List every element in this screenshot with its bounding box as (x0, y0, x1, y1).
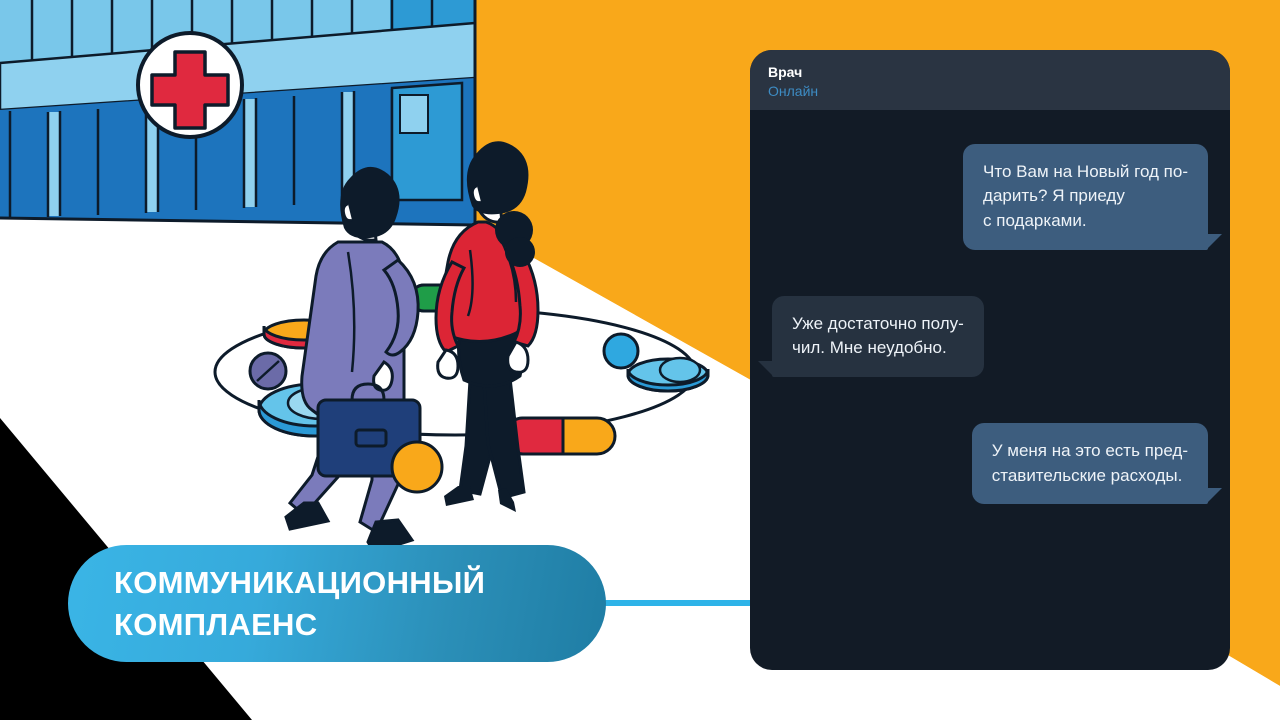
page-title-banner: КОММУНИКАЦИОННЫЙ КОМПЛАЕНС (68, 545, 606, 662)
chat-bubble-outgoing: Что Вам на Новый год по- дарить? Я приед… (963, 144, 1208, 250)
chat-message-row: Уже достаточно полу- чил. Мне неудобно. (772, 296, 1208, 377)
tablet-purple (250, 353, 286, 389)
chat-bubble-incoming: Уже достаточно полу- чил. Мне неудобно. (772, 296, 984, 377)
capsule-red-yellow (505, 418, 615, 454)
hospital-facade (0, 0, 475, 225)
page-title-line-1: КОММУНИКАЦИОННЫЙ (114, 562, 606, 603)
slide-canvas: КОММУНИКАЦИОННЫЙ КОМПЛАЕНС Врач Онлайн Ч… (0, 0, 1280, 720)
chat-header: Врач Онлайн (750, 50, 1230, 110)
red-cross-sign (138, 33, 242, 137)
chat-contact-name: Врач (768, 64, 1230, 82)
chat-bubble-outgoing: У меня на это есть пред- ставительские р… (972, 423, 1208, 504)
chat-message-row: Что Вам на Новый год по- дарить? Я приед… (772, 144, 1208, 250)
page-title-line-2: КОМПЛАЕНС (114, 604, 606, 645)
chat-panel: Врач Онлайн Что Вам на Новый год по- дар… (750, 50, 1230, 670)
tablet-cyan-pair (628, 358, 708, 391)
sphere-orange (392, 442, 442, 492)
chat-message-list[interactable]: Что Вам на Новый год по- дарить? Я приед… (750, 110, 1230, 670)
chat-message-row: У меня на это есть пред- ставительские р… (772, 423, 1208, 504)
chat-status-label: Онлайн (768, 82, 1230, 100)
tablet-blue-small (604, 334, 638, 368)
